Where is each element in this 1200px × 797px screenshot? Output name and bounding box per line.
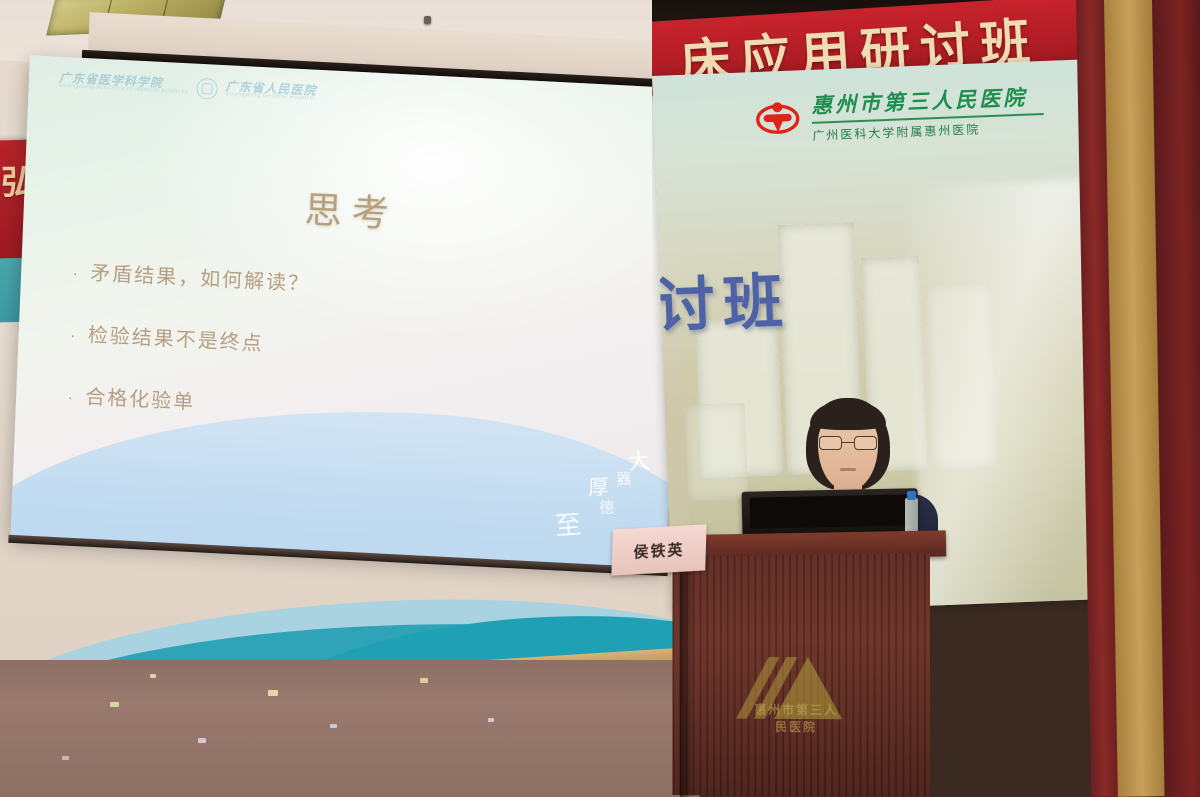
hospital-logo-icon [196,77,218,99]
podium-front-panel: 惠州市第三人民医院 [672,553,930,797]
stage-floor [0,660,700,797]
bullet-text: 合格化验单 [85,380,196,415]
bullet-marker: · [70,331,77,344]
podium-emblem-text: 惠州市第三人民医院 [748,701,844,736]
calligraphy-char: 至 [554,512,582,541]
speaker-mouth [840,468,856,471]
calligraphy-char: 德 [599,501,614,517]
smoke-detector-icon [424,16,431,24]
speaker-nameplate: 侯铁英 [611,524,706,575]
slide-title: 思考 [23,165,680,252]
projection-screen: 广东省医学科学院 Guangdong Academy of Medical Sc… [11,55,686,570]
nameplate-text: 侯铁英 [633,538,685,562]
podium-edge-shadow [680,557,694,797]
slide-header-logos: 广东省医学科学院 Guangdong Academy of Medical Sc… [58,65,349,112]
mountain-triangle-emblem-icon: 惠州市第三人民医院 [748,653,844,731]
bullet-text: 矛盾结果，如何解读？ [90,257,311,297]
speaker-fringe [810,400,886,430]
eyeglasses-icon [819,436,877,450]
calligraphy-char: 器 [616,472,631,488]
bullet-marker: · [73,269,80,282]
bullet-text: 检验结果不是终点 [87,319,264,357]
backdrop-large-text: 讨班 [653,253,792,345]
bullet-marker: · [68,393,75,406]
conference-hall-scene: 弘 广东省医学科学院 Guangdong Academy of Medical … [0,0,1200,797]
hospital-name-block: 惠州市第三人民医院 广州医科大学附属惠州医院 [811,80,1073,143]
laptop-icon [742,488,919,537]
projection-screen-assembly: 广东省医学科学院 Guangdong Academy of Medical Sc… [0,52,675,595]
podium: 惠州市第三人民医院 侯铁英 [648,533,948,797]
slide-logo-hospital: 广东省人民医院 Guangdong General Hospital [225,80,317,102]
list-item: · 检验结果不是终点 [70,318,491,368]
hospital-cross-person-icon [755,94,801,140]
slide-logo-academy: 广东省医学科学院 Guangdong Academy of Medical Sc… [59,72,189,96]
list-item: · 矛盾结果，如何解读？ [73,256,494,306]
calligraphy-char: 厚 [587,476,609,499]
